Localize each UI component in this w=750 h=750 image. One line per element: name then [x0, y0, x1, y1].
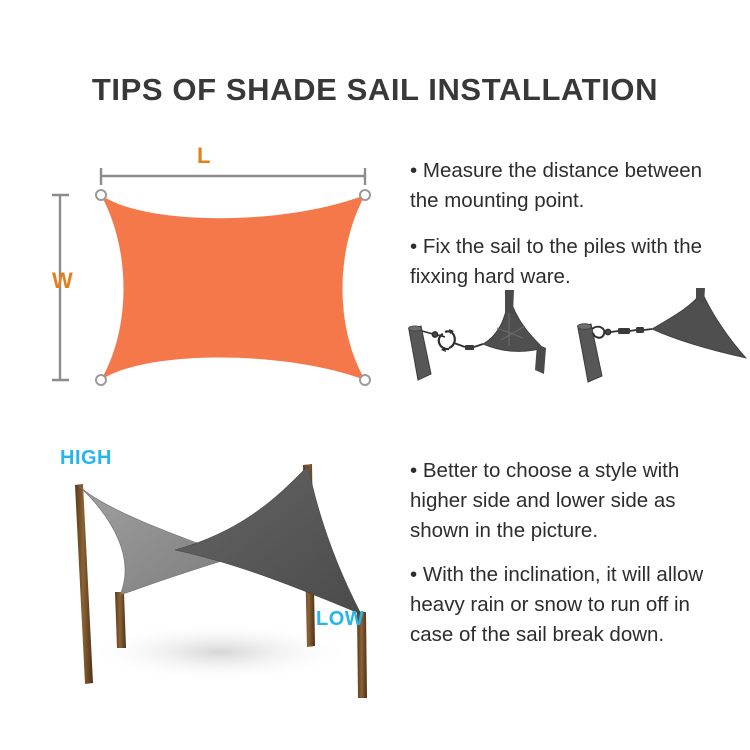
infographic-page: TIPS OF SHADE SAIL INSTALLATION	[0, 0, 750, 750]
inclined-shade-sail-svg	[25, 440, 405, 700]
width-label: W	[52, 268, 73, 294]
carabiner-icon	[592, 327, 611, 338]
high-side-label: HIGH	[60, 447, 112, 470]
page-title: TIPS OF SHADE SAIL INSTALLATION	[0, 72, 750, 108]
post-turnbuckle-sail-svg	[405, 288, 580, 388]
shade-sail-dimension-svg	[35, 140, 395, 410]
tip-measure: • Measure the distance between the mount…	[410, 156, 750, 216]
inclined-shade-sail-diagram	[25, 440, 405, 700]
mounting-post-icon	[409, 326, 432, 380]
hardware-illustration-left	[405, 288, 580, 388]
corner-grommet	[360, 190, 370, 200]
sail-corner-shape	[652, 292, 746, 358]
tip-style: • Better to choose a style with higher s…	[410, 456, 750, 546]
shade-sail-dimension-diagram	[35, 140, 395, 410]
corner-grommet	[360, 375, 370, 385]
post-carabiner-sail-svg	[570, 288, 750, 388]
turnbuckle-icon	[611, 327, 652, 334]
turnbuckle-icon	[422, 329, 483, 352]
corner-grommet	[96, 190, 106, 200]
mounting-post-icon	[578, 324, 603, 382]
shade-sail-dark	[175, 466, 361, 614]
length-label: L	[197, 143, 210, 169]
pole-rear-left	[75, 484, 93, 684]
support-post-icon	[505, 290, 514, 314]
length-dimension-line	[101, 168, 365, 185]
corner-grommet	[96, 375, 106, 385]
tip-fix: • Fix the sail to the piles with the fix…	[410, 232, 750, 292]
orange-sail-shape	[101, 195, 365, 380]
tip-inclination: • With the inclination, it will allow he…	[410, 560, 750, 650]
hardware-illustration-right	[570, 288, 750, 388]
low-side-label: LOW	[316, 608, 364, 631]
